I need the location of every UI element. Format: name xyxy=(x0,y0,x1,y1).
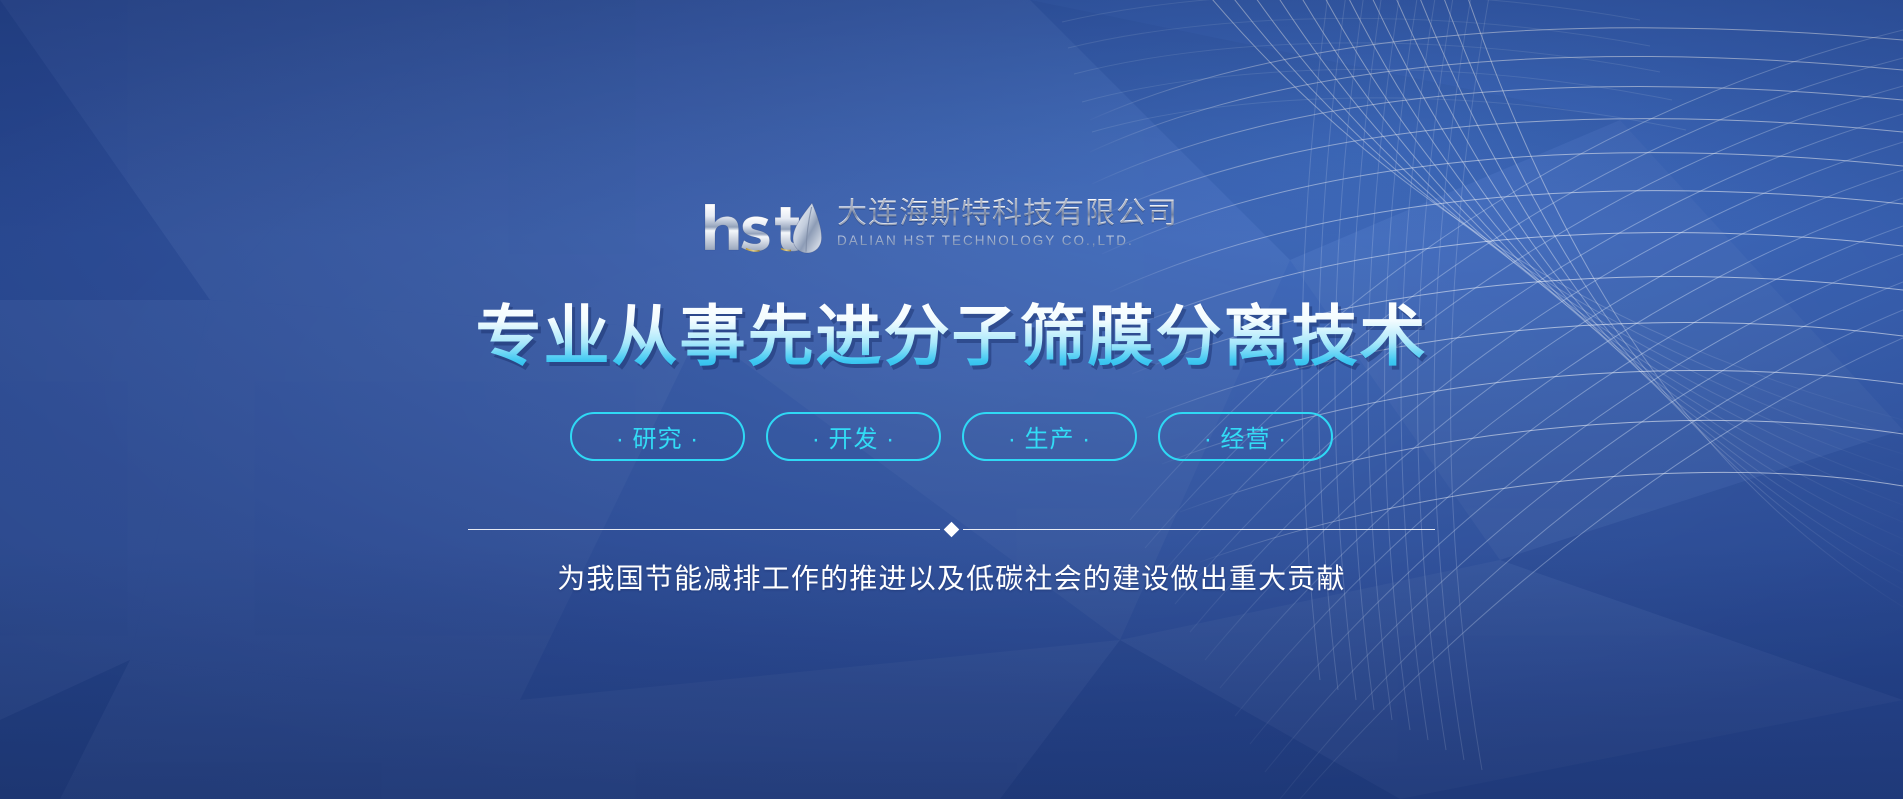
company-logo: 大连海斯特科技有限公司 DALIAN HST TECHNOLOGY CO.,LT… xyxy=(0,196,1903,258)
hero-banner: 大连海斯特科技有限公司 DALIAN HST TECHNOLOGY CO.,LT… xyxy=(0,0,1903,799)
diamond-ornament-icon xyxy=(944,521,960,537)
company-name-cn: 大连海斯特科技有限公司 xyxy=(837,198,1178,230)
company-name-en: DALIAN HST TECHNOLOGY CO.,LTD. xyxy=(837,233,1134,248)
divider-line-left xyxy=(468,529,940,530)
pill-development[interactable]: · 开发 · xyxy=(766,412,941,461)
leaf-icon xyxy=(793,203,822,253)
keyword-pill-row: · 研究 · · 开发 · · 生产 · · 经营 · xyxy=(0,412,1903,461)
page-title: 专业从事先进分子筛膜分离技术 xyxy=(0,300,1903,374)
divider-line-right xyxy=(963,529,1435,530)
hst-wordmark-icon xyxy=(701,196,827,258)
pill-research[interactable]: · 研究 · xyxy=(570,412,745,461)
section-divider xyxy=(468,519,1435,539)
pill-production[interactable]: · 生产 · xyxy=(962,412,1137,461)
pill-operation[interactable]: · 经营 · xyxy=(1158,412,1333,461)
tagline: 为我国节能减排工作的推进以及低碳社会的建设做出重大贡献 xyxy=(0,557,1903,597)
